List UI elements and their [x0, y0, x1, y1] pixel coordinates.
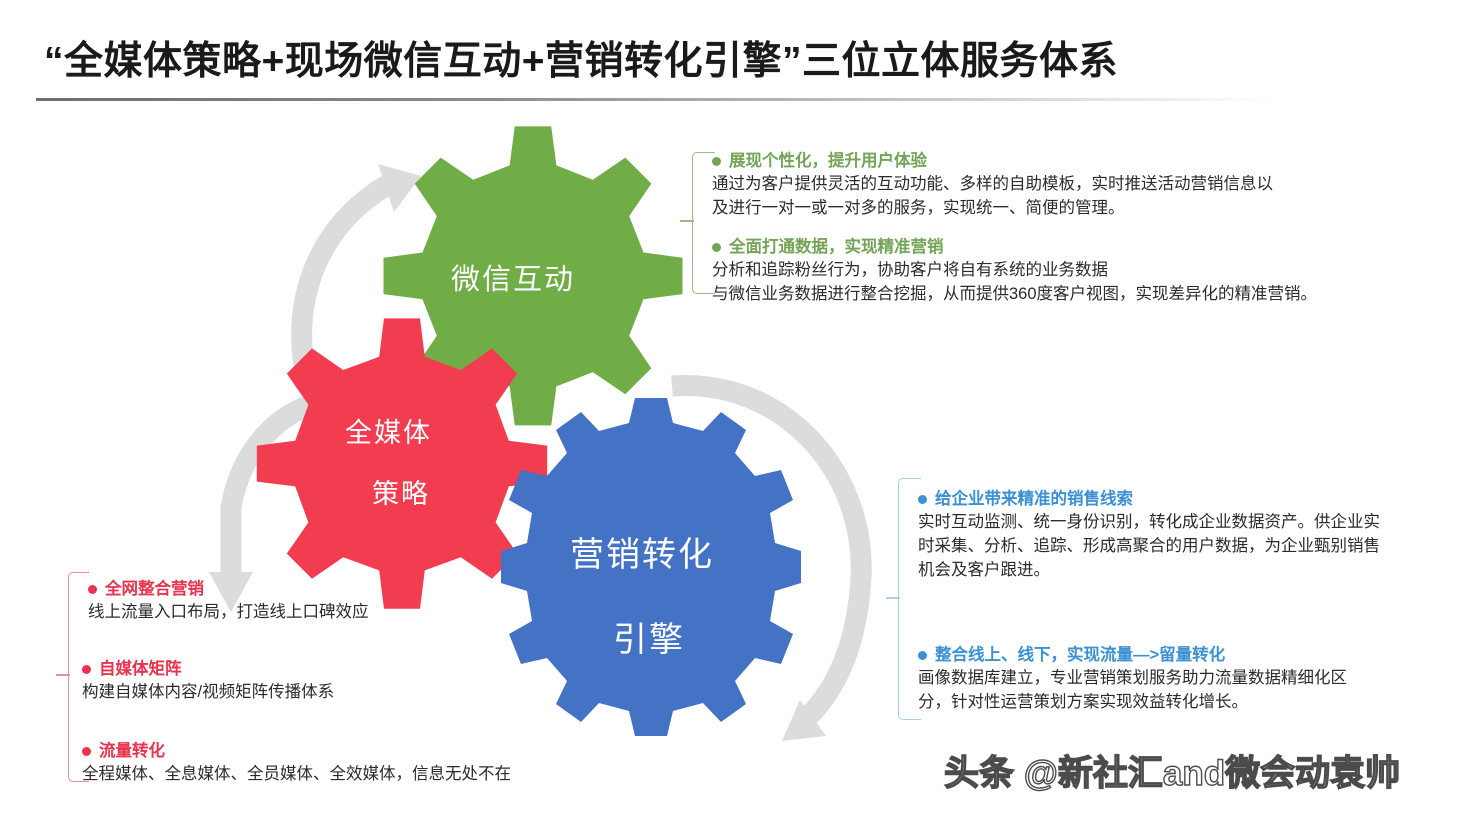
- gear-label-red-line2: 策略: [372, 472, 430, 511]
- callout-body-line: 画像数据库建立，专业营销策划服务助力流量数据精细化区: [918, 666, 1347, 690]
- callout-heading: 全网整合营销: [88, 578, 369, 600]
- callout-group-green: 展现个性化，提升用户体验 通过为客户提供灵活的互动功能、多样的自助模板，实时推送…: [712, 150, 1317, 306]
- callout-item-green-1: 展现个性化，提升用户体验 通过为客户提供灵活的互动功能、多样的自助模板，实时推送…: [712, 150, 1317, 220]
- callout-item-red-3: 流量转化 全程媒体、全息媒体、全员媒体、全效媒体，信息无处不在: [82, 740, 511, 786]
- gear-label-blue-line2: 引擎: [613, 612, 685, 661]
- callout-body-line: 构建自媒体内容/视频矩阵传播体系: [82, 680, 334, 704]
- callout-body-line: 分，针对性运营策划方案实现效益转化增长。: [918, 690, 1347, 714]
- callout-body-line: 时采集、分析、追踪、形成高聚合的用户数据，为企业甄别销售: [918, 534, 1380, 558]
- slide-canvas: “全媒体策略+现场微信互动+营销转化引擎”三位立体服务体系: [0, 0, 1460, 818]
- bullet-dot-icon: [918, 651, 927, 660]
- callout-heading-text: 自媒体矩阵: [99, 658, 182, 680]
- callout-heading-text: 全网整合营销: [105, 578, 204, 600]
- callout-heading: 整合线上、线下，实现流量—>留量转化: [918, 644, 1347, 666]
- bullet-dot-icon: [712, 157, 721, 166]
- bullet-dot-icon: [82, 665, 91, 674]
- callout-heading: 全面打通数据，实现精准营销: [712, 236, 1317, 258]
- bullet-dot-icon: [712, 243, 721, 252]
- callout-heading: 流量转化: [82, 740, 511, 762]
- callout-bracket-tick-blue: [886, 597, 900, 599]
- callout-body-line: 线上流量入口布局，打造线上口碑效应: [88, 600, 369, 624]
- page-title: “全媒体策略+现场微信互动+营销转化引擎”三位立体服务体系: [44, 38, 1118, 86]
- curved-arrow-icon-left-upper: [302, 164, 421, 380]
- callout-body-line: 全程媒体、全息媒体、全员媒体、全效媒体，信息无处不在: [82, 762, 511, 786]
- callout-bracket-tick-green: [680, 220, 694, 222]
- callout-heading-text: 展现个性化，提升用户体验: [729, 150, 927, 172]
- gear-icon-green: [384, 126, 683, 425]
- gear-icon-red: [257, 318, 547, 608]
- watermark: 头条 @新社汇and微会动袁帅: [944, 752, 1400, 796]
- callout-item-green-2: 全面打通数据，实现精准营销 分析和追踪粉丝行为，协助客户将自有系统的业务数据 与…: [712, 236, 1317, 306]
- bullet-dot-icon: [88, 585, 97, 594]
- callout-body-line: 实时互动监测、统一身份识别，转化成企业数据资产。供企业实: [918, 510, 1380, 534]
- curved-arrow-icon-right: [672, 386, 861, 741]
- gear-label-green: 微信互动: [451, 256, 575, 298]
- callout-item-red-1: 全网整合营销 线上流量入口布局，打造线上口碑效应: [88, 578, 369, 624]
- gear-label-red-line1: 全媒体: [345, 411, 432, 450]
- callout-item-red-2: 自媒体矩阵 构建自媒体内容/视频矩阵传播体系: [82, 658, 334, 704]
- callout-body-line: 与微信业务数据进行整合挖掘，从而提供360度客户视图，实现差异化的精准营销。: [712, 282, 1317, 306]
- gear-icon-blue: [501, 398, 801, 736]
- callout-heading: 展现个性化，提升用户体验: [712, 150, 1317, 172]
- callout-body-line: 分析和追踪粉丝行为，协助客户将自有系统的业务数据: [712, 258, 1317, 282]
- gear-label-blue-line1: 营销转化: [570, 527, 714, 576]
- callout-item-blue-2: 整合线上、线下，实现流量—>留量转化 画像数据库建立，专业营销策划服务助力流量数…: [918, 644, 1347, 714]
- callout-item-blue-1: 给企业带来精准的销售线索 实时互动监测、统一身份识别，转化成企业数据资产。供企业…: [918, 488, 1380, 582]
- callout-heading: 自媒体矩阵: [82, 658, 334, 680]
- callout-heading-text: 全面打通数据，实现精准营销: [729, 236, 944, 258]
- callout-heading-text: 流量转化: [99, 740, 165, 762]
- callout-bracket-tick-red: [56, 674, 70, 676]
- callout-heading: 给企业带来精准的销售线索: [918, 488, 1380, 510]
- title-divider: [36, 98, 1280, 101]
- callout-body-line: 机会及客户跟进。: [918, 558, 1380, 582]
- callout-body-line: 及进行一对一或一对多的服务，实现统一、简便的管理。: [712, 196, 1317, 220]
- callout-heading-text: 整合线上、线下，实现流量—>留量转化: [935, 644, 1225, 666]
- callout-heading-text: 给企业带来精准的销售线索: [935, 488, 1133, 510]
- bullet-dot-icon: [82, 747, 91, 756]
- bullet-dot-icon: [918, 495, 927, 504]
- callout-body-line: 通过为客户提供灵活的互动功能、多样的自助模板，实时推送活动营销信息以: [712, 172, 1317, 196]
